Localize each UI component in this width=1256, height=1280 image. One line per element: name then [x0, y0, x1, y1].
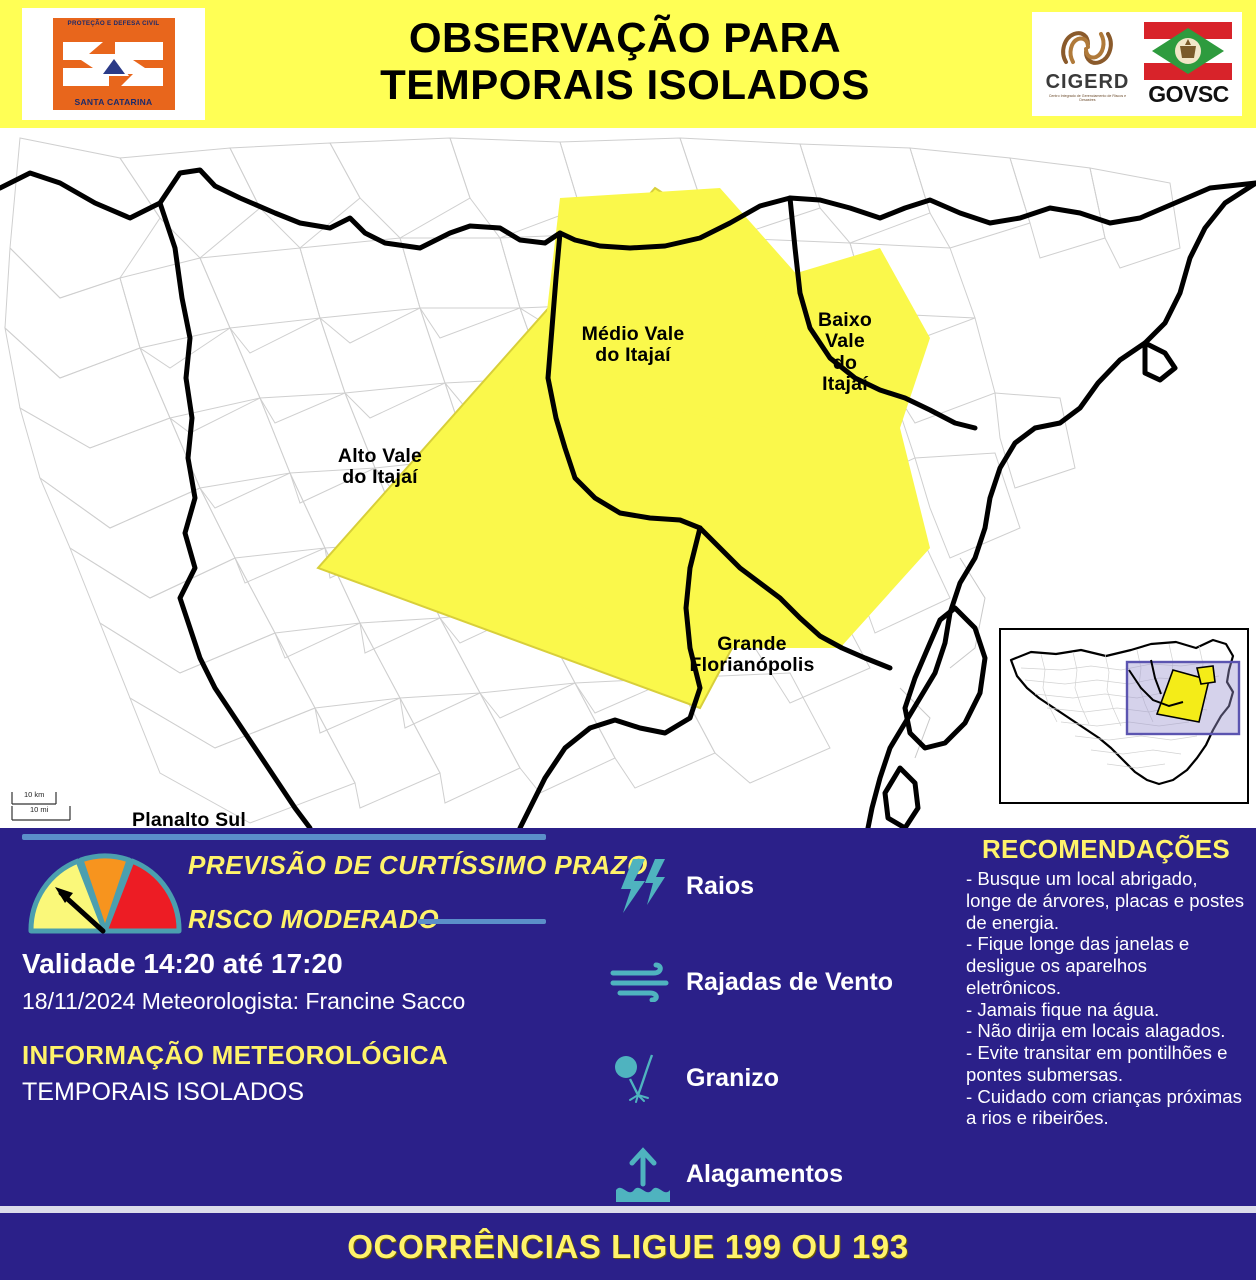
recommendation-item: - Fique longe das janelas e desligue os …	[966, 933, 1246, 998]
page-title-line1: OBSERVAÇÃO PARA	[230, 14, 1020, 61]
phenomenon-rajadas-de-vento: Rajadas de Vento	[600, 934, 940, 1030]
header-banner: PROTEÇÃO E DEFESA CIVIL SANTA CATARINA O…	[0, 0, 1256, 128]
govsc-name: GOVSC	[1148, 83, 1229, 106]
recommendation-item: - Cuidado com crianças próximas a rios e…	[966, 1086, 1246, 1130]
phenomenon-granizo: Granizo	[600, 1030, 940, 1126]
map-label-line: Vale	[800, 331, 890, 352]
govsc-sc-text: SC	[1198, 81, 1229, 107]
footer-divider	[0, 1206, 1256, 1213]
recommendations-title: RECOMENDAÇÕES	[966, 836, 1246, 862]
map-label-medio-vale-do-itajai: Médio Vale do Itajaí	[553, 324, 713, 367]
risk-level-underline	[418, 919, 546, 924]
info-panel: PREVISÃO DE CURTÍSSIMO PRAZO RISCO MODER…	[0, 828, 1256, 1212]
wind-gust-icon	[600, 962, 686, 1002]
santa-catarina-flag-icon	[1144, 22, 1232, 80]
defesa-civil-emblem: PROTEÇÃO E DEFESA CIVIL SANTA CATARINA	[53, 18, 175, 110]
meteo-info-body: TEMPORAIS ISOLADOS	[22, 1078, 304, 1107]
map-label-alto-vale-do-itajai: Alto Vale do Itajaí	[325, 446, 435, 489]
phenomenon-label: Rajadas de Vento	[686, 968, 893, 997]
map-label-line: do Itajaí	[553, 345, 713, 366]
map-label-baixo-vale-do-itajai: Baixo Vale do Itajaí	[800, 310, 890, 396]
defesa-civil-logo: PROTEÇÃO E DEFESA CIVIL SANTA CATARINA	[22, 8, 205, 120]
recommendation-item: - Busque um local abrigado, longe de árv…	[966, 868, 1246, 933]
locator-inset-map	[999, 628, 1249, 804]
panel-top-divider	[22, 834, 546, 840]
issued-by-text: 18/11/2024 Meteorologista: Francine Sacc…	[22, 988, 465, 1015]
page-title-line2: TEMPORAIS ISOLADOS	[230, 61, 1020, 108]
map-label-line: Alto Vale	[325, 446, 435, 467]
defesa-civil-symbol	[59, 34, 169, 94]
defesa-civil-top-text: PROTEÇÃO E DEFESA CIVIL	[53, 20, 175, 27]
map-scalebar: 10 km 10 mi	[10, 790, 78, 824]
map-label-planalto-sul: Planalto Sul	[132, 810, 312, 828]
footer-bar: OCORRÊNCIAS LIGUE 199 OU 193	[0, 1213, 1256, 1280]
defesa-civil-bottom-text: SANTA CATARINA	[53, 97, 175, 107]
risk-gauge-icon	[25, 845, 185, 937]
hail-icon	[600, 1053, 686, 1103]
cigerd-subtitle: Centro Integrado de Gerenciamento de Ris…	[1041, 94, 1133, 103]
forecast-title: PREVISÃO DE CURTÍSSIMO PRAZO	[188, 850, 648, 881]
cigerd-name: CIGERD	[1046, 72, 1130, 92]
page-title: OBSERVAÇÃO PARA TEMPORAIS ISOLADOS	[230, 14, 1020, 108]
phenomenon-label: Raios	[686, 872, 754, 901]
govsc-logo: GOVSC	[1141, 22, 1236, 106]
recommendations-block: RECOMENDAÇÕES - Busque um local abrigado…	[966, 836, 1246, 1129]
gov-logos: CIGERD Centro Integrado de Gerenciamento…	[1032, 12, 1242, 116]
map-label-line: Médio Vale	[553, 324, 713, 345]
alert-map: Médio Vale do Itajaí Baixo Vale do Itaja…	[0, 128, 1256, 828]
lightning-icon	[600, 857, 686, 915]
map-label-line: do	[800, 353, 890, 374]
flooding-icon	[600, 1146, 686, 1202]
locator-inset-graphic	[1001, 630, 1243, 798]
phenomenon-raios: Raios	[600, 838, 940, 934]
cigerd-logo: CIGERD Centro Integrado de Gerenciamento…	[1038, 26, 1137, 103]
phenomenon-label: Granizo	[686, 1064, 779, 1093]
map-label-line: Florianópolis	[672, 655, 832, 676]
map-label-line: Itajaí	[800, 374, 890, 395]
phenomenon-label: Alagamentos	[686, 1160, 843, 1189]
civil-defense-triangle-icon	[59, 34, 169, 94]
risk-level-label: RISCO MODERADO	[188, 904, 439, 935]
recommendations-list: - Busque um local abrigado, longe de árv…	[966, 868, 1246, 1129]
emergency-phone-text: OCORRÊNCIAS LIGUE 199 OU 193	[347, 1228, 908, 1266]
map-label-line: Grande	[672, 634, 832, 655]
validity-text: Validade 14:20 até 17:20	[22, 948, 343, 980]
scalebar-mi-label: 10 mi	[30, 805, 48, 814]
map-label-line: do Itajaí	[325, 467, 435, 488]
recommendation-item: - Jamais fique na água.	[966, 999, 1246, 1021]
risk-gauge	[25, 845, 185, 937]
govsc-gov-text: GOV	[1148, 81, 1198, 107]
meteo-info-heading: INFORMAÇÃO METEOROLÓGICA	[22, 1040, 448, 1071]
cigerd-swirl-icon	[1056, 26, 1118, 70]
recommendation-item: - Evite transitar em pontilhões e pontes…	[966, 1042, 1246, 1086]
recommendation-item: - Não dirija em locais alagados.	[966, 1020, 1246, 1042]
map-label-grande-florianopolis: Grande Florianópolis	[672, 634, 832, 677]
map-label-line: Baixo	[800, 310, 890, 331]
scalebar-km-label: 10 km	[24, 790, 44, 799]
map-label-line: Planalto Sul	[132, 810, 312, 828]
phenomena-list: Raios Rajadas de Vento	[600, 838, 940, 1222]
